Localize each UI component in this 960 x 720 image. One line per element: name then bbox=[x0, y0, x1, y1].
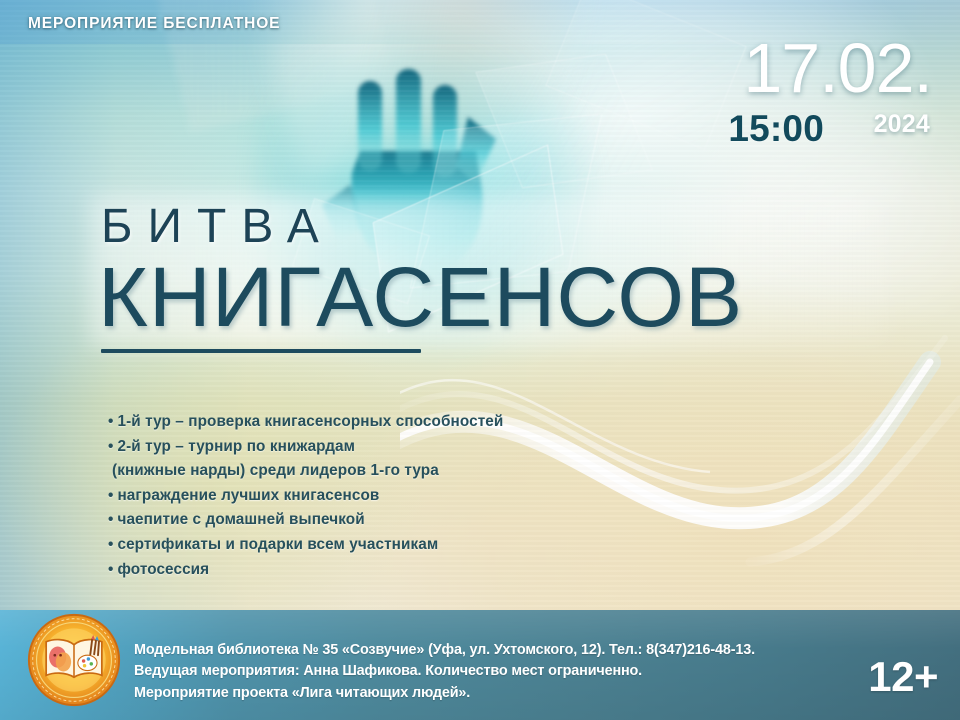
bullet-icon: • bbox=[108, 487, 113, 504]
list-item-label: 1-й тур – проверка книгасенсорных способ… bbox=[117, 413, 503, 430]
list-item: •2-й тур – турнир по книжардам bbox=[108, 435, 578, 460]
bullet-icon: • bbox=[108, 561, 113, 578]
list-item: •чаепитие с домашней выпечкой bbox=[108, 508, 578, 533]
list-item-label: фотосессия bbox=[117, 561, 209, 578]
bullet-icon: • bbox=[108, 413, 113, 430]
list-item-label: сертификаты и подарки всем участникам bbox=[117, 536, 438, 553]
footer-info: Модельная библиотека № 35 «Созвучие» (Уф… bbox=[134, 640, 874, 705]
list-item-label: чаепитие с домашней выпечкой bbox=[117, 511, 364, 528]
age-rating-badge: 12+ bbox=[868, 656, 938, 698]
bullet-icon: • bbox=[108, 438, 113, 455]
library-emblem-icon bbox=[26, 612, 122, 708]
list-item-label: 2-й тур – турнир по книжардам bbox=[117, 438, 355, 455]
event-year: 2024 bbox=[874, 112, 930, 137]
program-list: •1-й тур – проверка книгасенсорных спосо… bbox=[108, 410, 578, 582]
list-item-label: (книжные нарды) среди лидеров 1-го тура bbox=[112, 462, 439, 479]
bullet-icon: • bbox=[108, 511, 113, 528]
footer-line: Мероприятие проекта «Лига читающих людей… bbox=[134, 683, 874, 705]
footer-line: Ведущая мероприятия: Анна Шафикова. Коли… bbox=[134, 661, 874, 683]
list-item: •фотосессия bbox=[108, 558, 578, 583]
poster-subtitle: БИТВА bbox=[101, 203, 334, 251]
event-poster: МЕРОПРИЯТИЕ БЕСПЛАТНОЕ 17.02. 2024 15:00… bbox=[0, 0, 960, 720]
free-event-label: МЕРОПРИЯТИЕ БЕСПЛАТНОЕ bbox=[28, 15, 280, 33]
list-item-label: награждение лучших книгасенсов bbox=[117, 487, 379, 504]
bullet-icon: • bbox=[108, 536, 113, 553]
list-item: (книжные нарды) среди лидеров 1-го тура bbox=[108, 459, 578, 484]
footer-line: Модельная библиотека № 35 «Созвучие» (Уф… bbox=[134, 640, 874, 662]
event-time: 15:00 bbox=[728, 110, 824, 147]
title-underline bbox=[101, 349, 421, 353]
list-item: •сертификаты и подарки всем участникам bbox=[108, 533, 578, 558]
page-title: КНИГАСЕНСОВ bbox=[98, 255, 743, 339]
list-item: •награждение лучших книгасенсов bbox=[108, 484, 578, 509]
background-open-book bbox=[246, 0, 620, 181]
event-date: 17.02. bbox=[743, 33, 932, 103]
list-item: •1-й тур – проверка книгасенсорных спосо… bbox=[108, 410, 578, 435]
